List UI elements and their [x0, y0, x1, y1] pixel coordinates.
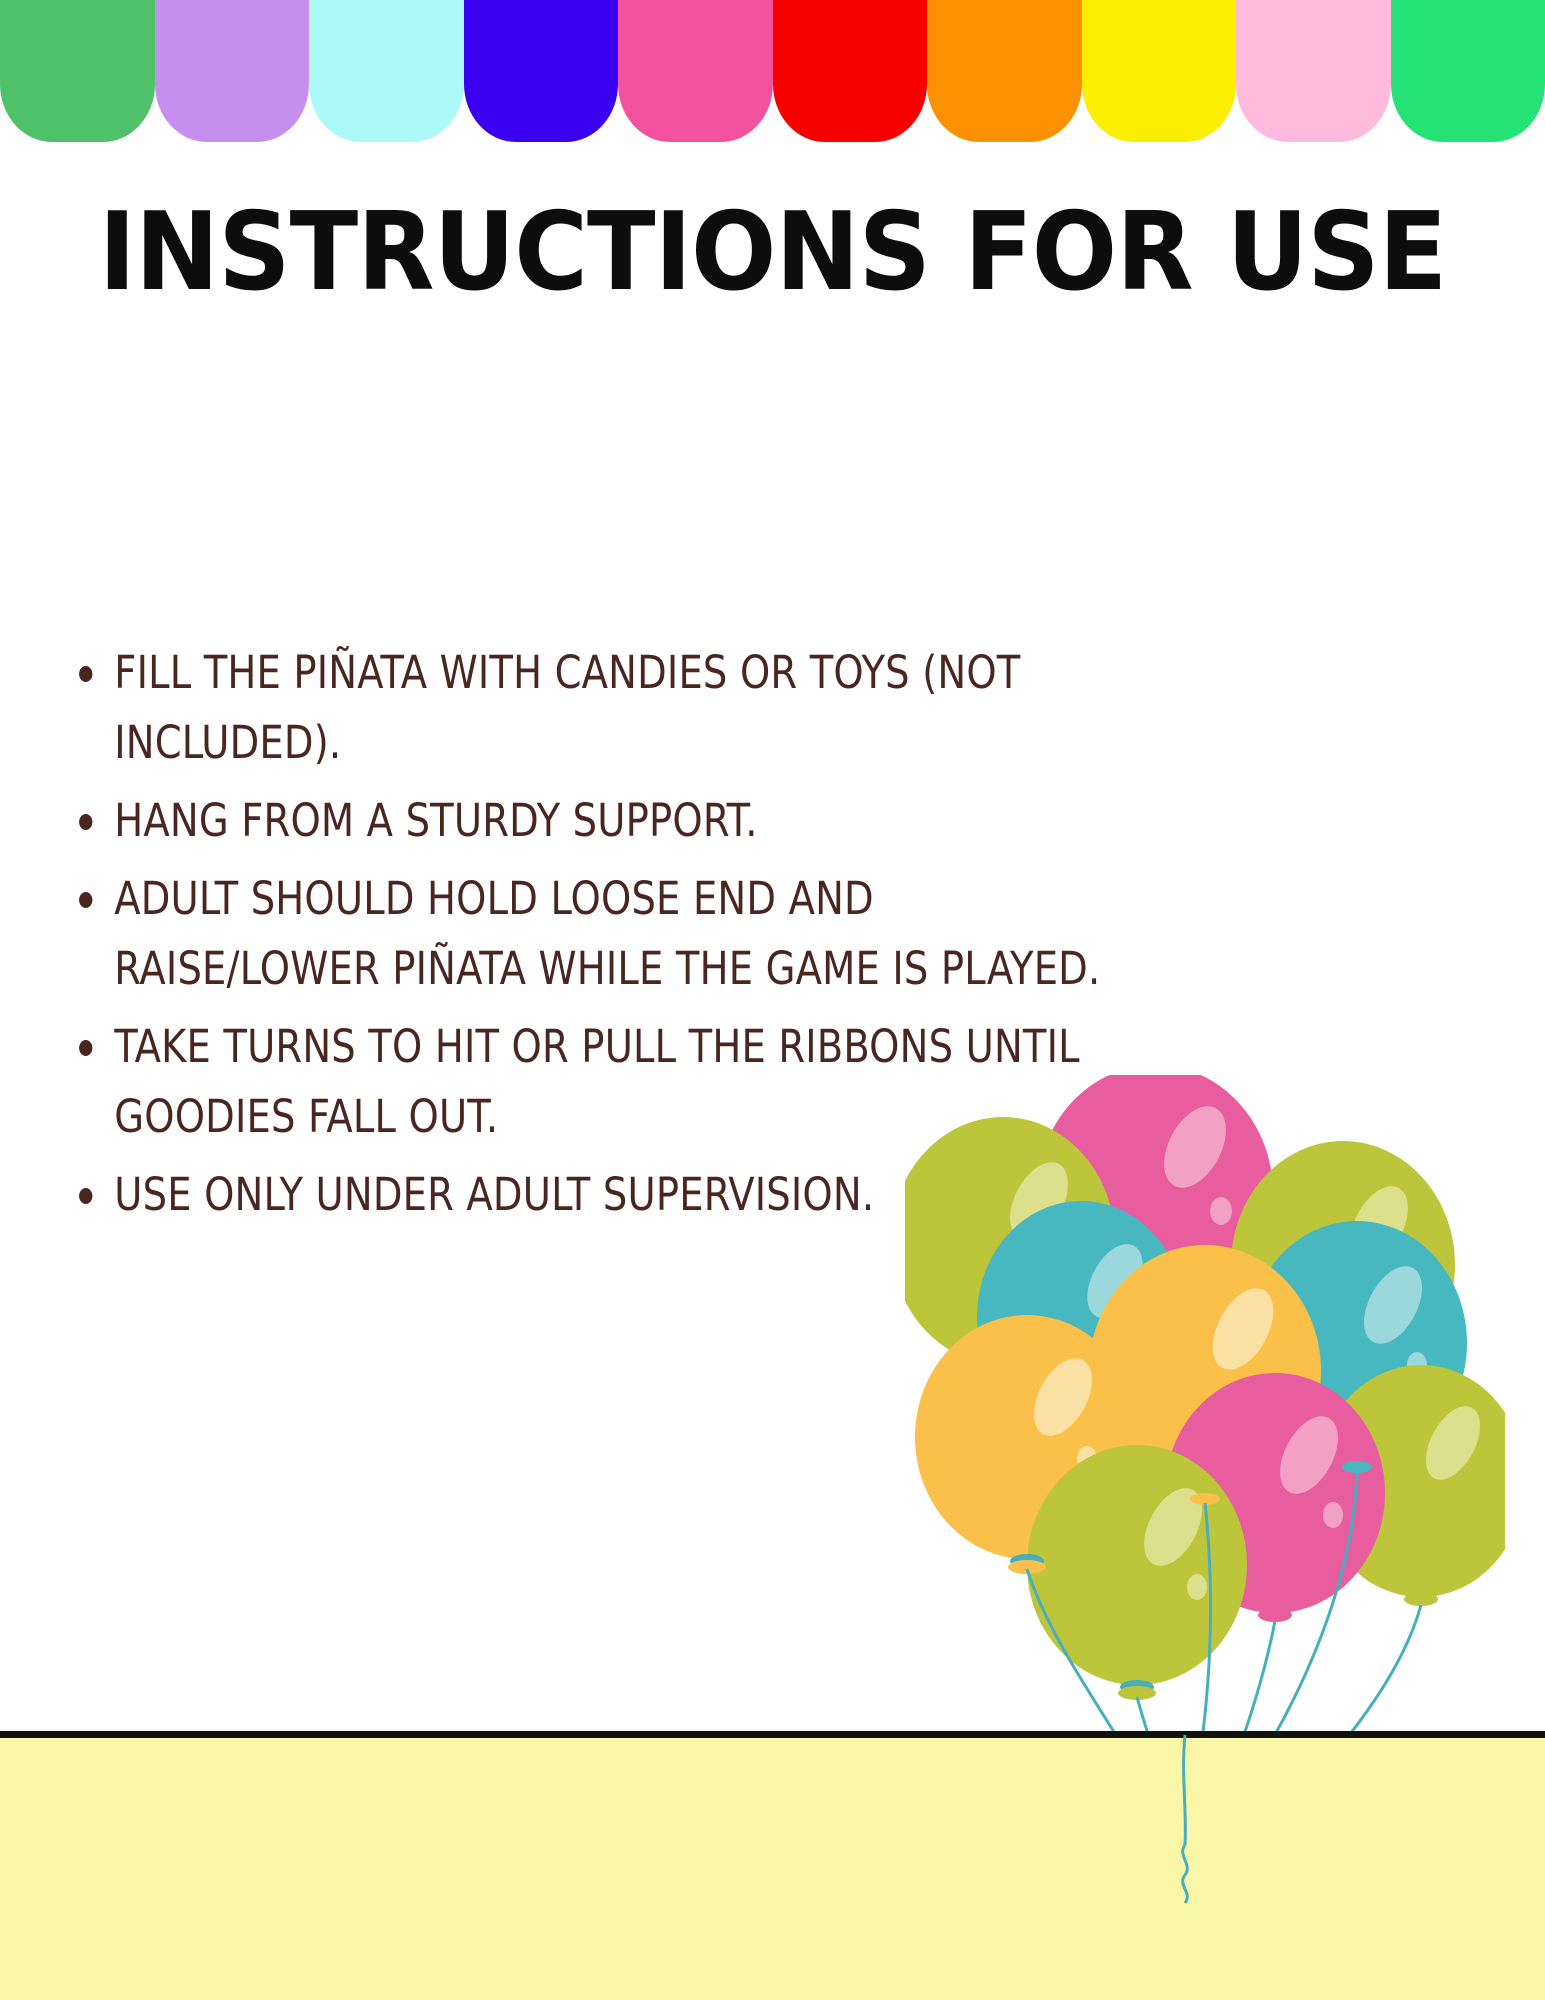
- scallop-orange: [927, 0, 1082, 142]
- scallop-pink: [618, 0, 773, 142]
- scallop-green: [0, 0, 155, 142]
- scallop-light-pink: [1236, 0, 1391, 142]
- instruction-item: HANG FROM A STURDY SUPPORT.: [62, 786, 1126, 856]
- footer-band: [0, 1738, 1545, 2000]
- scallop-red: [773, 0, 928, 142]
- instruction-item: FILL THE PIÑATA WITH CANDIES OR TOYS (NO…: [62, 638, 1126, 778]
- instruction-item: ADULT SHOULD HOLD LOOSE END AND RAISE/LO…: [62, 864, 1126, 1004]
- page-title: INSTRUCTIONS FOR USE: [54, 190, 1491, 315]
- balloon-olive-bottom: [1027, 1445, 1247, 1685]
- footer-divider-rule: [0, 1731, 1545, 1738]
- scallop-aqua: [309, 0, 464, 142]
- scallop-mint-green: [1391, 0, 1545, 142]
- scallop-yellow: [1082, 0, 1237, 142]
- scallop-blue: [464, 0, 619, 142]
- scallop-lavender: [155, 0, 310, 142]
- scalloped-rainbow-banner: [0, 0, 1545, 142]
